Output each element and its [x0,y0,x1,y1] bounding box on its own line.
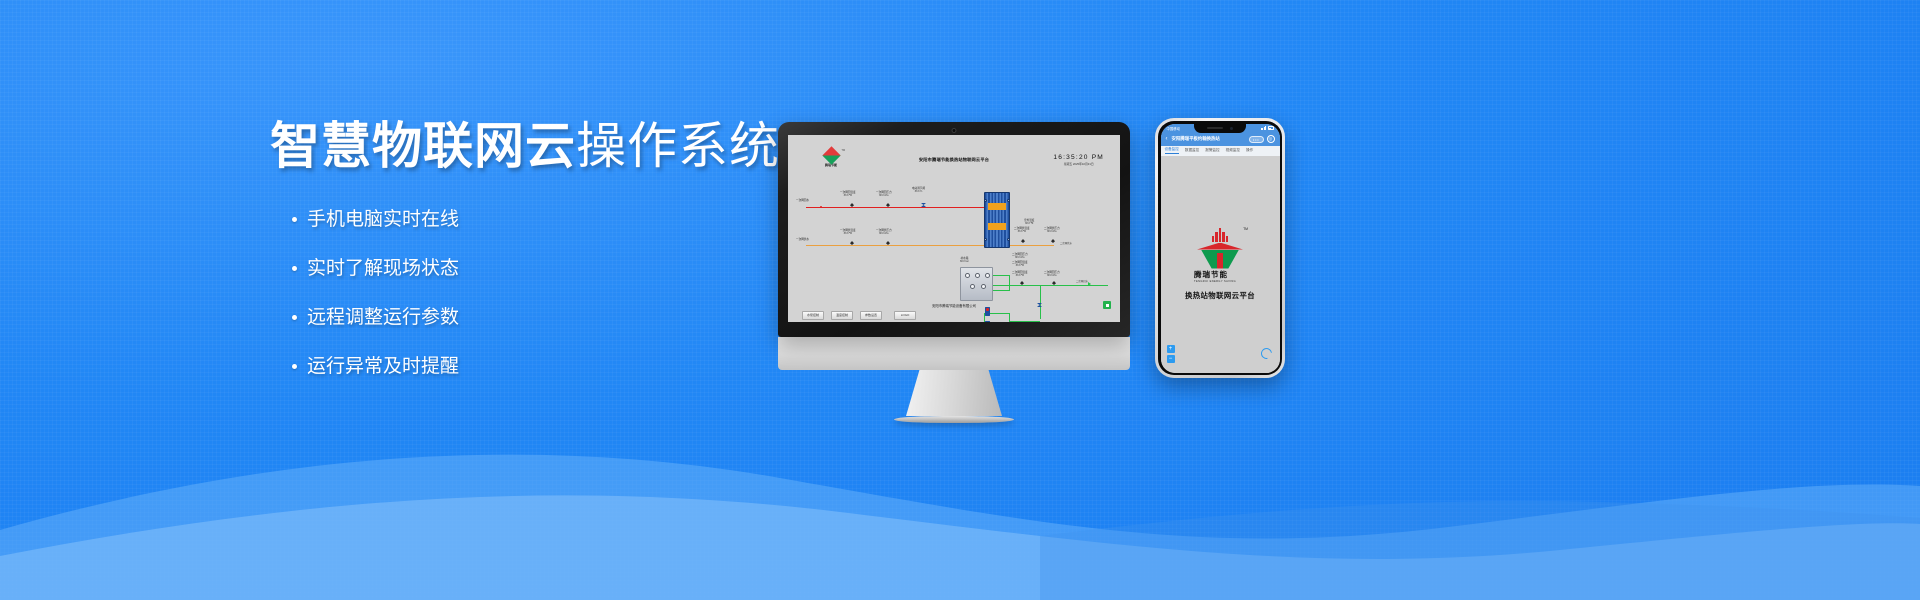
phone-nav-title: 安阳腾瑞平板约翰换热站 [1172,136,1220,142]
signal-icon [1261,126,1266,129]
label-secondary-return: 二次网回水 [1076,279,1088,283]
label-secondary-supply: 二次网供水 [1060,241,1072,245]
label-control-valve: 电动调节阀88.8 % [912,187,925,193]
label-primary-supply: 一次网供水 [796,238,809,241]
phone-tab-bar: 设备监控 数据监控 报警监控 视频监控 操作 [1161,146,1280,156]
list-item: 远程调整运行参数 [292,308,830,327]
control-valve-icon [921,203,926,207]
bullet-dot-icon [292,217,297,222]
flow-arrow-icon [1088,282,1091,286]
brand-arc-icon [1197,243,1243,250]
bullet-dot-icon [292,315,297,320]
front-camera-icon [1230,127,1233,130]
label-primary-return-temp: 一次网回温度88.8 ℃ [840,191,856,197]
pump-unit-icon [985,321,990,322]
label-primary-supply-temp: 一次网供温度88.8 ℃ [840,229,856,235]
pipe-tank-out [993,285,1011,286]
list-item: 运行异常及时提醒 [292,357,830,376]
monitor-base [894,416,1014,423]
battery-icon [1268,126,1274,129]
scada-clock: 16:35:20 PM 星期五 2025年10月31日 [1053,154,1104,166]
toolbar-button-pump[interactable]: 水泵控制 [802,311,824,320]
stop-icon [1106,304,1109,307]
label-secondary-supply-temp: 二次网供温度88.8 ℃ [1014,227,1030,233]
status-carrier-label: 中国移动 [1167,126,1181,131]
sensor-icon [886,203,890,207]
phone-content: TM 腾瑞节能 TENGRUI ENERGY SAVING 换热站物联网云平台 [1161,156,1280,373]
sensor-icon [850,241,854,245]
phone-headline: 换热站物联网云平台 [1185,290,1255,301]
scada-screen: TM 腾瑞节能 安阳市腾瑞节能换热站物联网云平台 16:35:20 PM 星期五… [788,135,1120,322]
tab-video-monitor[interactable]: 视频监控 [1226,148,1240,154]
label-secondary-return-press: 二次网回压力88.8 kPa [1012,253,1028,259]
sensor-icon [1021,239,1025,243]
monitor-chin [778,337,1130,370]
headline-light: 操作系统 [576,118,780,174]
status-badge[interactable] [1103,301,1111,309]
tab-data-monitor[interactable]: 数据监控 [1185,148,1199,154]
label-secondary-loop-press: 二次网回压力88.8 kPa [1044,271,1060,277]
webcam-icon [952,128,957,133]
brand-bars-icon [1194,228,1246,242]
list-item-label: 运行异常及时提醒 [307,357,459,376]
label-secondary-loop-temp: 二次网回温度88.8 ℃ [1012,271,1028,277]
phone-frame: 中国移动 ‹ 安阳腾瑞平板约翰换热站 ••• ◎ [1155,118,1285,378]
sensor-icon [1020,281,1024,285]
list-item: 手机电脑实时在线 [292,210,830,229]
list-item-label: 手机电脑实时在线 [307,210,459,229]
list-item-label: 实时了解现场状态 [307,259,459,278]
sensor-icon [1051,239,1055,243]
phone-bezel: 中国移动 ‹ 安阳腾瑞平板约翰换热站 ••• ◎ [1158,121,1282,375]
monitor-stand [906,370,1002,416]
sensor-icon [886,241,890,245]
headline-bold: 智慧物联网云 [270,118,576,174]
pipe-primary-return [806,207,984,208]
tab-alarm-monitor[interactable]: 报警监控 [1205,148,1219,154]
heat-exchanger-icon [984,192,1010,248]
label-primary-return-press: 一次网回压力88.8 kPa [876,191,892,197]
list-item: 实时了解现场状态 [292,259,830,278]
feature-list: 手机电脑实时在线 实时了解现场状态 远程调整运行参数 运行异常及时提醒 [270,210,830,376]
brand-tm-label: TM [1243,227,1248,231]
label-secondary-return-temp: 二次网回温度88.8 ℃ [1012,261,1028,267]
monitor-bezel: TM 腾瑞节能 安阳市腾瑞节能换热站物联网云平台 16:35:20 PM 星期五… [778,122,1130,337]
zoom-controls: + − [1167,345,1175,363]
logo-tm-label: TM [842,149,845,152]
pipe-makeup-return [1010,321,1040,322]
bullet-dot-icon [292,364,297,369]
tab-operation[interactable]: 操作 [1246,148,1253,154]
scada-footer-company: 安阳市腾瑞节能设备有限公司 [788,303,1120,308]
label-water-tank: 补水箱88.8 bar [960,257,969,263]
tab-device-monitor[interactable]: 设备监控 [1165,147,1179,154]
scada-toolbar: 水泵控制 温度控制 参数设置 LOGO [788,311,1120,320]
clock-date: 星期五 2025年10月31日 [1053,162,1104,166]
label-outdoor-temp: 室外温度88.8 ℃ [1024,219,1034,225]
zoom-out-button[interactable]: − [1167,355,1175,363]
pipe-primary-supply [806,245,1054,246]
phone-nav-bar: ‹ 安阳腾瑞平板约翰换热站 ••• ◎ [1161,133,1280,146]
sensor-icon [1052,281,1056,285]
toolbar-button-settings[interactable]: 参数设置 [860,311,882,320]
brand-name-label: 腾瑞节能 [1194,269,1246,280]
brand-logo: TM 腾瑞节能 TENGRUI ENERGY SAVING [1194,228,1246,283]
label-secondary-supply-press: 二次网供压力88.8 kPa [1044,227,1060,233]
nav-actions: ••• ◎ [1249,135,1275,143]
sensor-icon [850,203,854,207]
toolbar-button-temperature[interactable]: 温度控制 [831,311,853,320]
clock-time: 16:35:20 PM [1053,154,1104,161]
bullet-dot-icon [292,266,297,271]
zoom-in-button[interactable]: + [1167,345,1175,353]
desktop-monitor-mockup: TM 腾瑞节能 安阳市腾瑞节能换热站物联网云平台 16:35:20 PM 星期五… [778,122,1130,423]
water-tank-icon [960,267,993,301]
brand-shield-icon [1201,250,1239,269]
list-item-label: 远程调整运行参数 [307,308,459,327]
phone-screen: 中国移动 ‹ 安阳腾瑞平板约翰换热站 ••• ◎ [1161,124,1280,373]
hero-copy: 智慧物联网云操作系统 手机电脑实时在线 实时了解现场状态 远程调整运行参数 运行… [270,118,830,406]
more-dots-icon[interactable]: ••• [1249,136,1264,143]
close-circle-icon[interactable]: ◎ [1267,135,1275,143]
page-title: 智慧物联网云操作系统 [270,118,830,176]
phone-notch [1194,124,1246,133]
label-primary-supply-press: 一次网供压力88.8 kPa [876,229,892,235]
toolbar-button-logo[interactable]: LOGO [894,311,916,320]
status-indicators [1261,126,1274,129]
mobile-phone-mockup: 中国移动 ‹ 安阳腾瑞平板约翰换热站 ••• ◎ [1155,118,1285,378]
pipe-secondary-supply [1010,285,1108,286]
brand-english-label: TENGRUI ENERGY SAVING [1194,280,1246,283]
chevron-left-icon[interactable]: ‹ [1166,136,1168,142]
earpiece-speaker-icon [1207,127,1223,129]
label-primary-return: 一次网回水 [796,199,809,202]
